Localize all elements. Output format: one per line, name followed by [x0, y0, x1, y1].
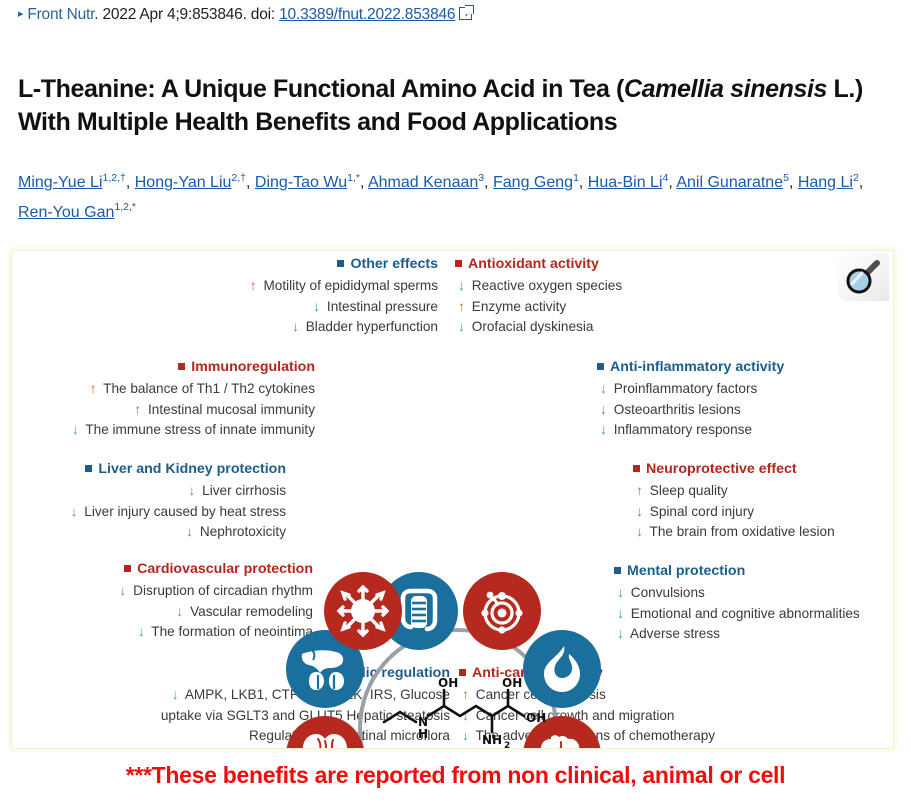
heart-glyph [300, 731, 350, 749]
arrow-down-icon: ↓ [455, 276, 468, 297]
benefit-item-text: Spinal cord injury [646, 504, 754, 519]
author-affiliation-sup: 1,2,† [103, 169, 126, 188]
benefit-item: ↓ The brain from oxidative lesion [633, 522, 835, 543]
doi-link[interactable]: 10.3389/fnut.2022.853846 [279, 6, 455, 23]
bullet-square-icon [455, 260, 462, 267]
benefit-item: ↓ Intestinal pressure [247, 297, 438, 318]
benefit-block-neuroprotective-effect: Neuroprotective effect↑ Sleep quality↓ S… [633, 459, 835, 543]
benefit-heading-label: Cardiovascular protection [137, 561, 313, 577]
author-affiliation-sup: 1,* [347, 169, 360, 188]
author-separator: , [360, 174, 368, 191]
author-separator: , [859, 174, 863, 191]
benefit-heading: Liver and Kidney protection [67, 459, 286, 481]
benefit-heading: Immunoregulation [69, 357, 315, 379]
bullet-square-icon [85, 465, 92, 472]
benefit-item: ↓ Osteoarthritis lesions [597, 400, 784, 421]
antibody-glyph [336, 584, 390, 638]
benefit-item-text: Inflammatory response [610, 422, 752, 437]
benefit-item-text: Vascular remodeling [186, 604, 313, 619]
benefit-item: ↓ Reactive oxygen species [455, 276, 622, 297]
external-link-icon[interactable] [459, 7, 472, 20]
benefit-block-other-effects: Other effects↑ Motility of epididymal sp… [247, 254, 438, 338]
benefit-item-text: Proinflammatory factors [610, 381, 757, 396]
benefit-item: ↓ Disruption of circadian rhythm [116, 581, 313, 602]
benefit-item-text: Intestinal mucosal immunity [144, 402, 315, 417]
benefit-item-text: Osteoarthritis lesions [610, 402, 741, 417]
author-separator: , [246, 174, 255, 191]
arrow-up-icon: ↑ [455, 297, 468, 318]
arrow-down-icon: ↓ [633, 502, 646, 523]
bullet-square-icon [178, 363, 185, 370]
benefit-item-text: Sleep quality [646, 483, 728, 498]
benefit-heading-label: Immunoregulation [191, 359, 315, 375]
benefit-item: ↑ Motility of epididymal sperms [247, 276, 438, 297]
arrow-down-icon: ↓ [614, 604, 627, 625]
arrow-up-icon: ↑ [87, 379, 100, 400]
arrow-down-icon: ↓ [69, 420, 82, 441]
author-separator: , [789, 174, 798, 191]
benefit-item-text: Motility of epididymal sperms [260, 278, 438, 293]
arrow-down-icon: ↓ [289, 317, 302, 338]
benefit-block-liver-and-kidney-protection: Liver and Kidney protection↓ Liver cirrh… [67, 459, 286, 543]
arrow-down-icon: ↓ [173, 602, 186, 623]
benefit-block-anti-inflammatory-activity: Anti-inflammatory activity↓ Proinflammat… [597, 357, 784, 441]
benefit-heading-label: Antioxidant activity [468, 256, 599, 272]
figure-panel: Other effects↑ Motility of epididymal sp… [11, 250, 894, 749]
atom-glyph [476, 585, 528, 637]
arrow-down-icon: ↓ [135, 622, 148, 643]
benefit-item-text: Convulsions [627, 585, 705, 600]
benefit-item: ↓ Bladder hyperfunction [247, 317, 438, 338]
author-link[interactable]: Hua-Bin Li [588, 174, 663, 191]
benefit-heading: Cardiovascular protection [116, 559, 313, 581]
antibody-immune-icon[interactable] [324, 572, 402, 650]
bullet-square-icon [337, 260, 344, 267]
arrow-down-icon: ↓ [185, 481, 198, 502]
arrow-down-icon: ↓ [597, 400, 610, 421]
arrow-down-icon: ↓ [633, 522, 646, 543]
arrow-down-icon: ↓ [597, 379, 610, 400]
atom-oxygen-radical-icon[interactable] [463, 572, 541, 650]
author-separator: , [126, 174, 135, 191]
author-affiliation-sup: 1,2,* [114, 198, 136, 217]
benefit-item-text: Nephrotoxicity [196, 524, 286, 539]
author-affiliation-sup: 2,† [231, 169, 246, 188]
author-link[interactable]: Ding-Tao Wu [255, 174, 347, 191]
molecule-label: L-theanine [382, 748, 562, 749]
author-link[interactable]: Fang Geng [493, 174, 573, 191]
benefit-heading: Other effects [247, 254, 438, 276]
benefit-item-text: Emotional and cognitive abnormalities [627, 606, 860, 621]
benefit-item: ↓ The formation of neointima [116, 622, 313, 643]
benefit-item-text: Liver injury caused by heat stress [80, 504, 286, 519]
arrow-up-icon: ↑ [247, 276, 260, 297]
benefit-item: ↓ Vascular remodeling [116, 602, 313, 623]
svg-text:H: H [418, 727, 428, 741]
arrow-up-icon: ↑ [633, 481, 646, 502]
benefit-heading: Anti-inflammatory activity [597, 357, 784, 379]
benefit-heading-label: Neuroprotective effect [646, 461, 797, 477]
svg-text:OH: OH [438, 676, 458, 690]
l-theanine-structure: N H OH OH OH NH 2 [382, 676, 562, 749]
benefit-item: ↓ Convulsions [614, 583, 860, 604]
caret-icon: ▸ [18, 7, 23, 20]
page-title: L-Theanine: A Unique Functional Amino Ac… [18, 73, 898, 140]
benefit-heading: Neuroprotective effect [633, 459, 835, 481]
title-part-1: L-Theanine: A Unique Functional Amino Ac… [18, 75, 624, 103]
benefit-item: ↑ The balance of Th1 / Th2 cytokines [69, 379, 315, 400]
benefit-item: ↓ Emotional and cognitive abnormalities [614, 604, 860, 625]
bullet-square-icon [124, 565, 131, 572]
benefit-item-text: Adverse stress [627, 626, 720, 641]
benefit-item: ↓ Adverse stress [614, 624, 860, 645]
arrow-down-icon: ↓ [614, 583, 627, 604]
benefit-item-text: Disruption of circadian rhythm [129, 583, 313, 598]
magnifier-glyph [844, 258, 882, 296]
magnifier-icon[interactable] [837, 253, 889, 301]
benefit-item: ↑ Enzyme activity [455, 297, 622, 318]
arrow-down-icon: ↓ [183, 522, 196, 543]
benefit-heading: Antioxidant activity [455, 254, 622, 276]
benefit-item-text: Bladder hyperfunction [302, 319, 438, 334]
figure-container: Other effects↑ Motility of epididymal sp… [8, 247, 897, 752]
benefit-block-immunoregulation: Immunoregulation↑ The balance of Th1 / T… [69, 357, 315, 441]
benefit-heading: Mental protection [614, 561, 860, 583]
benefit-item-text: Reactive oxygen species [468, 278, 622, 293]
bullet-square-icon [633, 465, 640, 472]
benefit-item: ↑ Sleep quality [633, 481, 835, 502]
benefit-item-text: The formation of neointima [148, 624, 313, 639]
benefit-item: ↓ Inflammatory response [597, 420, 784, 441]
author-link[interactable]: Ren-You Gan [18, 204, 114, 221]
arrow-up-icon: ↑ [131, 400, 144, 421]
bullet-square-icon [597, 363, 604, 370]
benefit-item-text: Liver cirrhosis [198, 483, 286, 498]
liver-kidney-glyph [299, 645, 351, 693]
arrow-down-icon: ↓ [116, 581, 129, 602]
benefit-item: ↓ Liver cirrhosis [67, 481, 286, 502]
svg-text:OH: OH [526, 711, 546, 725]
benefit-heading-label: Mental protection [627, 563, 745, 579]
benefit-item-text: Orofacial dyskinesia [468, 319, 593, 334]
benefit-item: ↓ Nephrotoxicity [67, 522, 286, 543]
benefit-item: ↓ The immune stress of innate immunity [69, 420, 315, 441]
arrow-down-icon: ↓ [614, 624, 627, 645]
svg-text:NH: NH [482, 733, 502, 747]
title-species-italic: Camellia sinensis [624, 75, 827, 103]
citation-details: . 2022 Apr 4;9:853846. doi: [94, 6, 275, 23]
arrow-down-icon: ↓ [67, 502, 80, 523]
benefit-item: ↓ Spinal cord injury [633, 502, 835, 523]
benefit-item: ↓ Liver injury caused by heat stress [67, 502, 286, 523]
author-list: Ming-Yue Li 1,2,†, Hong-Yan Liu 2,†, Din… [18, 168, 908, 227]
benefit-item-text: The balance of Th1 / Th2 cytokines [100, 381, 315, 396]
benefit-heading-label: Anti-inflammatory activity [610, 359, 784, 375]
author-link[interactable]: Ahmad Kenaan [368, 174, 478, 191]
benefit-heading-label: Other effects [350, 256, 438, 272]
arrow-down-icon: ↓ [597, 420, 610, 441]
molecule-diagram: N H OH OH OH NH 2 L-theanine [382, 676, 562, 749]
bullet-square-icon [614, 567, 621, 574]
benefit-item-text: The immune stress of innate immunity [82, 422, 315, 437]
benefit-item-text: Intestinal pressure [323, 299, 438, 314]
footnote-disclaimer: ***These benefits are reported from non … [0, 762, 911, 789]
benefit-block-cardiovascular-protection: Cardiovascular protection↓ Disruption of… [116, 559, 313, 643]
benefit-heading-label: Liver and Kidney protection [98, 461, 286, 477]
benefit-block-antioxidant-activity: Antioxidant activity↓ Reactive oxygen sp… [455, 254, 622, 338]
benefit-item-text: Enzyme activity [468, 299, 566, 314]
benefit-block-mental-protection: Mental protection↓ Convulsions↓ Emotiona… [614, 561, 860, 645]
benefit-item-text: The brain from oxidative lesion [646, 524, 835, 539]
author-link[interactable]: Anil Gunaratne [676, 174, 783, 191]
svg-text:OH: OH [502, 676, 522, 690]
author-separator: , [484, 174, 493, 191]
arrow-down-icon: ↓ [169, 685, 182, 706]
benefit-item: ↑ Intestinal mucosal immunity [69, 400, 315, 421]
author-link[interactable]: Hong-Yan Liu [135, 174, 232, 191]
arrow-down-icon: ↓ [455, 317, 468, 338]
author-link[interactable]: Ming-Yue Li [18, 174, 103, 191]
benefit-item: ↓ Orofacial dyskinesia [455, 317, 622, 338]
benefit-item: ↓ Proinflammatory factors [597, 379, 784, 400]
author-link[interactable]: Hang Li [798, 174, 853, 191]
author-separator: , [579, 174, 588, 191]
arrow-down-icon: ↓ [310, 297, 323, 318]
journal-name: Front Nutr [27, 6, 94, 23]
citation-line: ▸Front Nutr. 2022 Apr 4;9:853846. doi: 1… [18, 6, 472, 24]
